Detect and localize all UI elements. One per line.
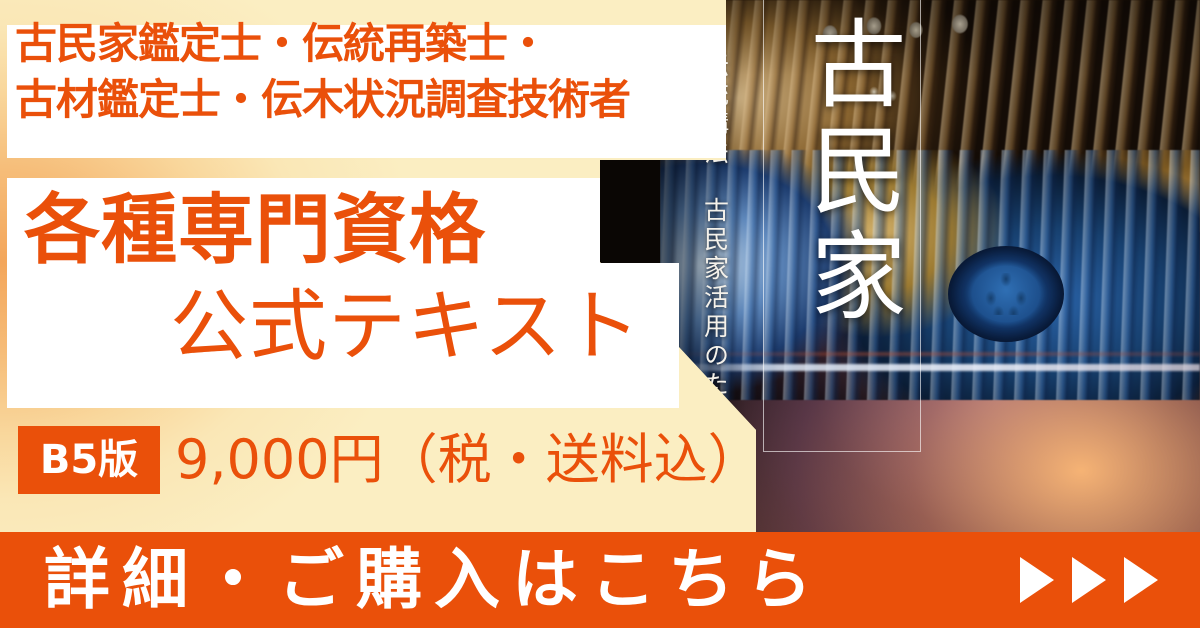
- cta-arrow-group: [1020, 557, 1158, 603]
- headline-line-1: 古民家鑑定士・伝統再築士・: [15, 19, 548, 68]
- book-title: 古民家: [772, 14, 908, 332]
- play-arrow-icon: [1020, 557, 1054, 603]
- price-text: 9,000円（税・送料込）: [175, 430, 762, 489]
- headline-text: 古民家鑑定士・伝統再築士・ 古材鑑定士・伝木状況調査技術者: [15, 16, 715, 129]
- play-arrow-icon: [1072, 557, 1106, 603]
- subtitle-line-1: 各種専門資格: [24, 192, 486, 268]
- play-arrow-icon: [1124, 557, 1158, 603]
- subtitle-line-2: 公式テキスト: [170, 288, 642, 366]
- promo-banner: 古民家 伝統構法 古民家活用のための調査と再生の 古民家鑑定士・伝統再築士・ 古…: [0, 0, 1200, 628]
- format-badge-label: B5版: [40, 440, 138, 480]
- cta-label: 詳細・ご購入はこちら: [44, 547, 824, 613]
- cta-bar[interactable]: 詳細・ご購入はこちら: [0, 532, 1200, 628]
- format-badge: B5版: [18, 426, 160, 494]
- headline-line-2: 古材鑑定士・伝木状況調査技術者: [15, 72, 715, 128]
